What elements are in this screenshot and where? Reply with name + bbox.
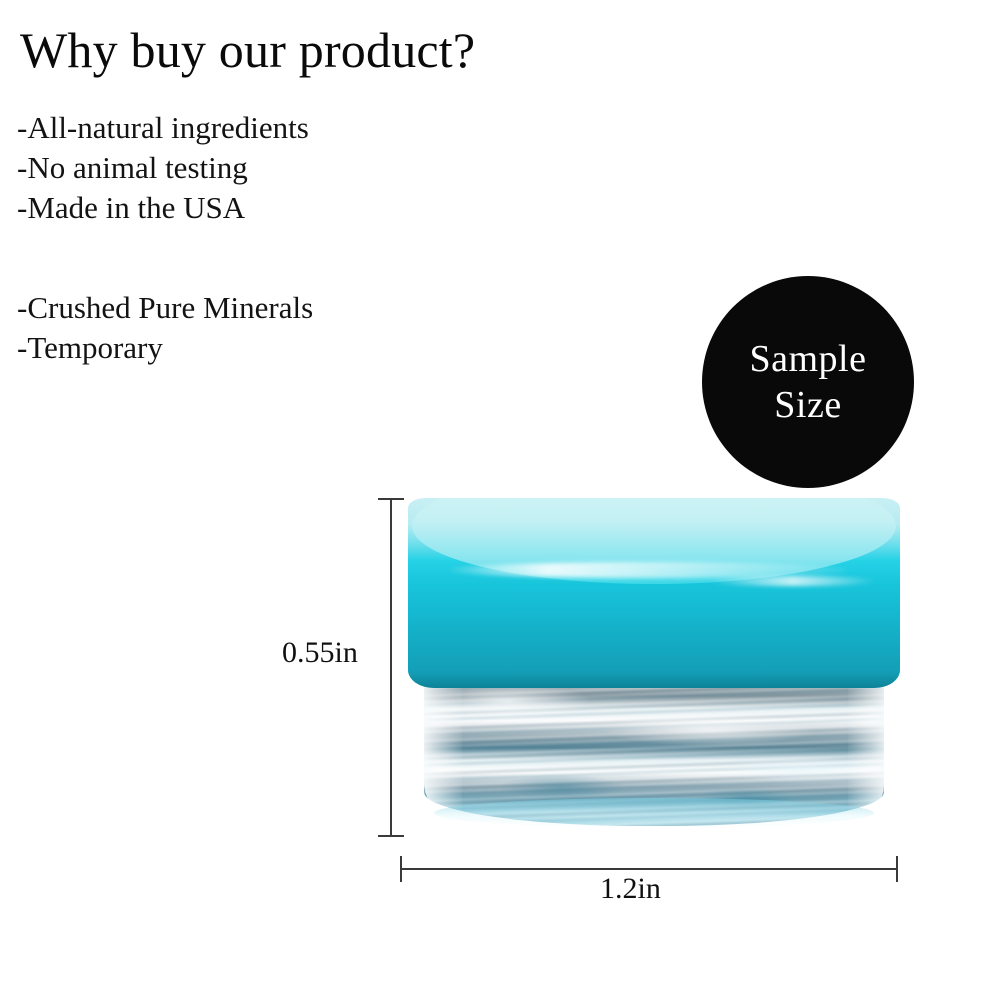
- sample-jar: [408, 498, 900, 828]
- sample-size-badge: Sample Size: [702, 276, 914, 488]
- product-infographic: Why buy our product? -All-natural ingred…: [0, 0, 1000, 1000]
- product-image: [370, 480, 930, 920]
- list-item: -Made in the USA: [17, 188, 309, 228]
- list-item: -Crushed Pure Minerals: [17, 288, 313, 328]
- list-item: -No animal testing: [17, 148, 309, 188]
- page-title: Why buy our product?: [20, 20, 475, 80]
- width-dimension-tick-right: [896, 856, 898, 882]
- height-dimension-tick-bottom: [378, 835, 404, 837]
- jar-lid-highlight-secondary: [708, 576, 878, 586]
- jar-lid: [408, 498, 900, 688]
- list-item: -All-natural ingredients: [17, 108, 309, 148]
- benefits-primary-list: -All-natural ingredients -No animal test…: [17, 108, 309, 228]
- list-item: -Temporary: [17, 328, 313, 368]
- width-dimension-tick-left: [400, 856, 402, 882]
- height-dimension-label: 0.55in: [282, 636, 358, 670]
- badge-line-2: Size: [774, 382, 841, 428]
- jar-lid-bottom-edge: [408, 672, 900, 688]
- badge-line-1: Sample: [750, 336, 867, 382]
- width-dimension-line: [400, 868, 898, 870]
- benefits-secondary-list: -Crushed Pure Minerals -Temporary: [17, 288, 313, 368]
- height-dimension-tick-top: [378, 498, 404, 500]
- height-dimension-line: [390, 498, 392, 837]
- width-dimension-label: 1.2in: [600, 872, 661, 906]
